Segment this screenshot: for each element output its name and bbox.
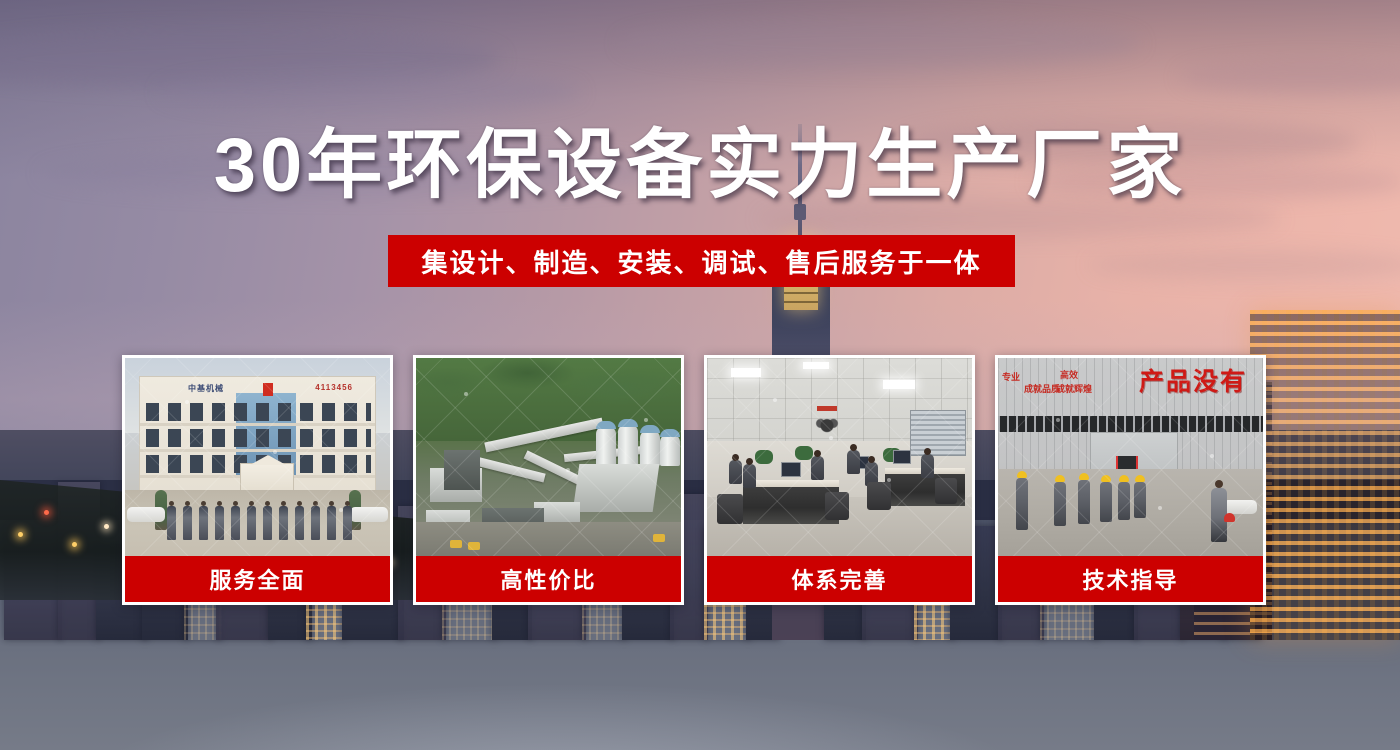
building-sign-text: 中基机械: [188, 383, 224, 394]
feature-card[interactable]: 中基机械 4113456: [122, 355, 393, 605]
red-helmet-icon: [1224, 513, 1235, 522]
page-title: 30年环保设备实力生产厂家: [0, 128, 1400, 204]
card-photo-office: [707, 358, 972, 556]
card-caption: 体系完善: [707, 556, 972, 602]
card-caption: 高性价比: [416, 556, 681, 602]
factory-slogan: 专业: [1002, 372, 1020, 382]
feature-card[interactable]: 产品没有 专业 成就品质 高效 成就辉煌: [995, 355, 1266, 605]
banner-stage: 30年环保设备实力生产厂家 集设计、制造、安装、调试、售后服务于一体 中基机械 …: [0, 0, 1400, 750]
card-caption: 技术指导: [998, 556, 1263, 602]
building-phone-text: 4113456: [315, 383, 353, 392]
card-photo-plant-aerial: [416, 358, 681, 556]
card-photo-headquarters: 中基机械 4113456: [125, 358, 390, 556]
wall-decal: [807, 406, 847, 434]
subtitle-banner: 集设计、制造、安装、调试、售后服务于一体: [388, 235, 1015, 287]
factory-slogan: 高效: [1060, 370, 1078, 380]
feature-card[interactable]: 体系完善: [704, 355, 975, 605]
card-caption: 服务全面: [125, 556, 390, 602]
feature-card[interactable]: 高性价比: [413, 355, 684, 605]
feature-card-list: 中基机械 4113456: [122, 355, 1278, 605]
cloud: [620, 18, 1140, 68]
factory-wall-text: 产品没有: [1139, 362, 1259, 398]
card-photo-workers: 产品没有 专业 成就品质 高效 成就辉煌: [998, 358, 1263, 556]
subtitle-text: 集设计、制造、安装、调试、售后服务于一体: [421, 243, 981, 280]
factory-slogan: 成就辉煌: [1056, 384, 1092, 394]
flag-icon: [263, 383, 273, 396]
window-blinds: [910, 410, 966, 456]
cloud: [160, 72, 580, 112]
factory-slogan: 成就品质: [1024, 384, 1060, 394]
